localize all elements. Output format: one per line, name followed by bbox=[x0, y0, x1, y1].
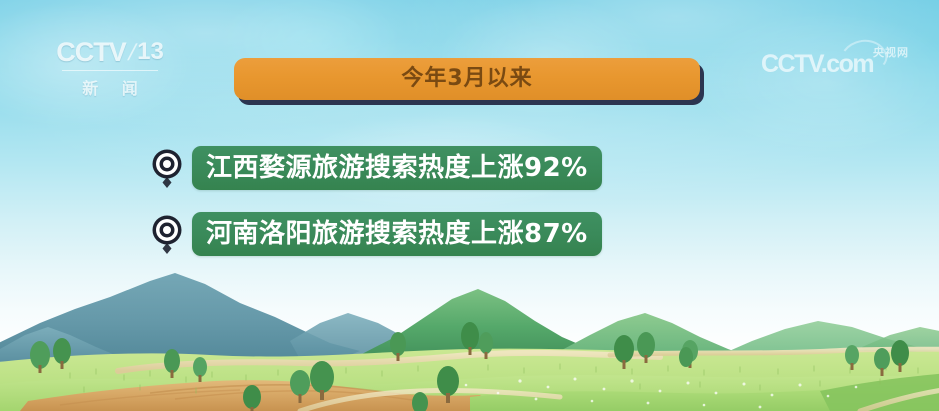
broadcast-graphic-screen: CCTV / 13 新 闻 CCTV.com 央视网 今年3月以来 bbox=[0, 0, 939, 411]
header-banner: 今年3月以来 bbox=[234, 58, 700, 100]
cctv-channel-subtitle: 新 闻 bbox=[50, 75, 170, 99]
map-pin-target-icon bbox=[150, 213, 184, 255]
map-pin-target-icon bbox=[150, 147, 184, 189]
stat-text: 河南洛阳旅游搜索热度上涨87% bbox=[206, 221, 588, 247]
watermark-brand-text: CCTV bbox=[761, 50, 821, 78]
cctv-channel-number: 13 bbox=[137, 40, 164, 64]
cctv-com-watermark: CCTV.com 央视网 bbox=[761, 42, 911, 86]
watermark-cn-label: 央视网 bbox=[873, 44, 909, 60]
cctv-logo-row: CCTV / 13 bbox=[50, 36, 170, 68]
stat-bar: 江西婺源旅游搜索热度上涨92% bbox=[192, 146, 602, 190]
stat-row: 河南洛阳旅游搜索热度上涨87% bbox=[150, 211, 602, 257]
cctv13-channel-logo: CCTV / 13 新 闻 bbox=[50, 36, 170, 102]
stat-bar: 河南洛阳旅游搜索热度上涨87% bbox=[192, 212, 602, 256]
header-banner-body: 今年3月以来 bbox=[234, 58, 700, 100]
landscape-illustration bbox=[0, 251, 939, 411]
cctv-wordmark: CCTV bbox=[56, 39, 126, 66]
stat-text: 江西婺源旅游搜索热度上涨92% bbox=[206, 155, 588, 181]
watermark-brand: CCTV.com bbox=[761, 52, 873, 77]
cctv-logo-underline bbox=[62, 70, 158, 71]
watermark-domain-text: com bbox=[826, 50, 873, 78]
stat-row: 江西婺源旅游搜索热度上涨92% bbox=[150, 145, 602, 191]
header-banner-label: 今年3月以来 bbox=[401, 68, 532, 90]
